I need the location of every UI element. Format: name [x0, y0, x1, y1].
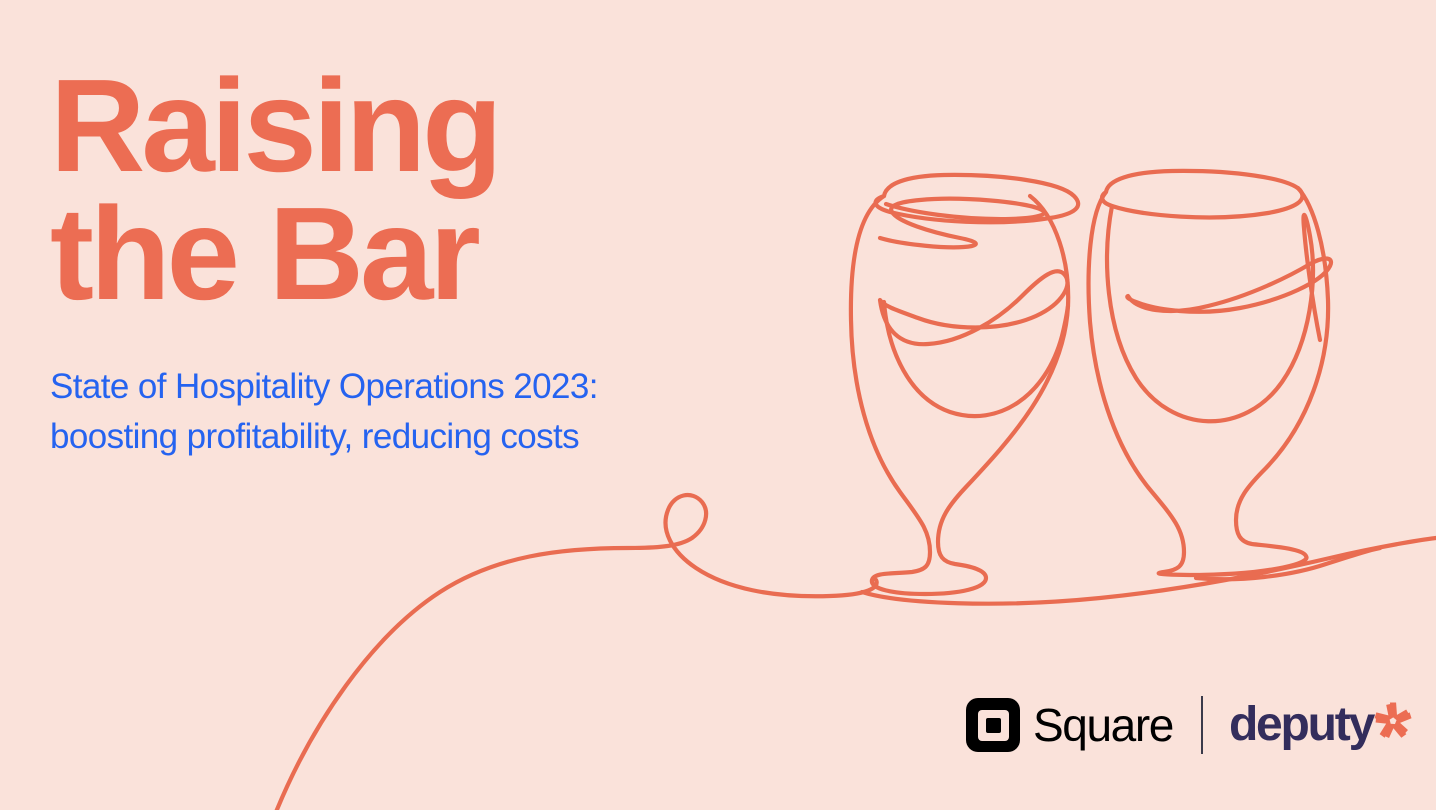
square-mark-ring — [978, 710, 1009, 741]
deputy-wordmark: deputy — [1229, 701, 1373, 749]
logo-lockup: Square deputy — [966, 694, 1415, 756]
logo-divider — [1201, 696, 1203, 754]
page-title: Raising the Bar — [50, 62, 690, 318]
deputy-pinwheel-icon — [1371, 699, 1415, 743]
square-logo-mark-icon — [966, 698, 1020, 752]
report-cover-page: Raising the Bar State of Hospitality Ope… — [0, 0, 1436, 810]
square-mark-dot — [986, 718, 1001, 733]
deputy-logo: deputy — [1229, 701, 1415, 749]
square-logo: Square — [966, 698, 1173, 752]
page-subtitle: State of Hospitality Operations 2023: bo… — [50, 362, 690, 461]
headline-block: Raising the Bar State of Hospitality Ope… — [50, 62, 690, 461]
square-wordmark: Square — [1033, 702, 1173, 748]
